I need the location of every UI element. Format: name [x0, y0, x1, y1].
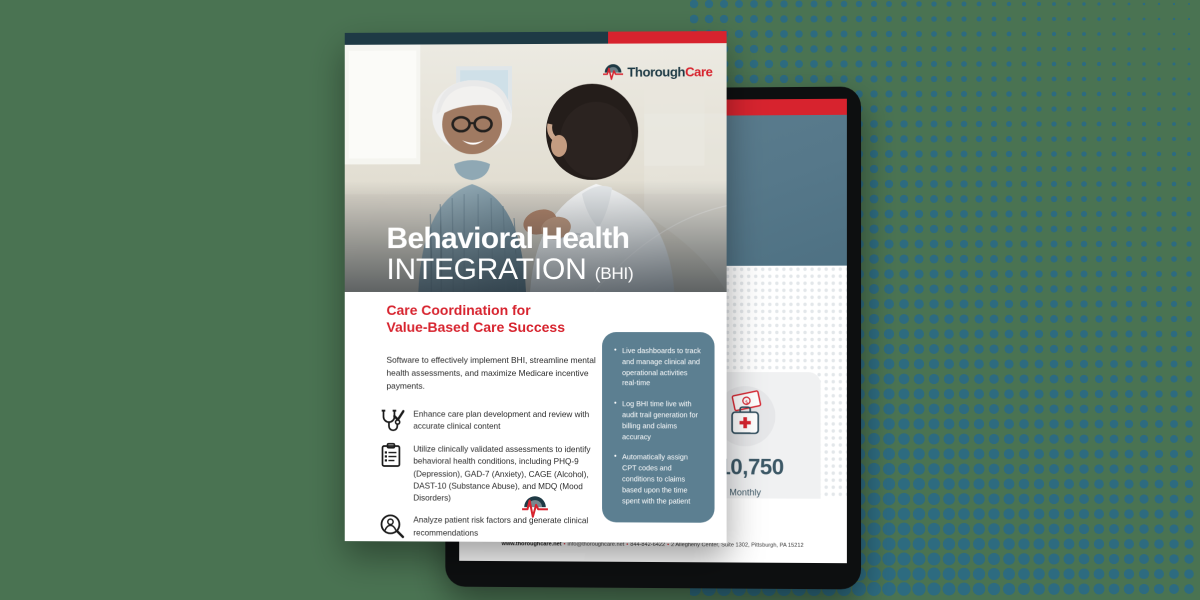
feature-callout-box: Live dashboards to track and manage clin…: [602, 332, 714, 523]
feature-text: Utilize clinically validated assessments…: [413, 443, 606, 506]
feature-item: Utilize clinically validated assessments…: [379, 443, 607, 506]
footer-phone: 844-842-6422: [630, 542, 665, 548]
title-line-1: Behavioral Health: [386, 223, 633, 253]
page1-top-bar: [345, 31, 727, 45]
feature-text: Analyze patient risk factors and generat…: [413, 514, 606, 540]
feature-list: Enhance care plan development and review…: [379, 408, 607, 543]
header-logo-text: ThoroughCare: [627, 64, 712, 79]
header-logo-part1: Thorough: [627, 64, 685, 79]
callout-bullet: Log BHI time live with audit trail gener…: [614, 399, 703, 443]
footer-email[interactable]: info@thoroughcare.net: [568, 542, 625, 548]
header-logo: ThoroughCare: [602, 61, 712, 81]
thoroughcare-logo-icon: [521, 493, 549, 519]
clipboard-checklist-icon: [379, 443, 405, 469]
title-line-2: INTEGRATION (BHI): [386, 254, 633, 286]
callout-bullet-list: Live dashboards to track and manage clin…: [614, 346, 703, 507]
thoroughcare-logo-icon: [602, 62, 624, 82]
stethoscope-check-icon: [379, 408, 405, 434]
page1-bottom-logo: [521, 493, 549, 524]
feature-text: Enhance care plan development and review…: [413, 408, 606, 434]
title-integration: INTEGRATION: [386, 253, 586, 286]
screenshot-stage: Code Pays 99484 $43.04 G0511 $77.90 ...g…: [0, 0, 1200, 600]
callout-bullet: Live dashboards to track and manage clin…: [614, 346, 703, 389]
page1-top-bar-red: [608, 31, 727, 44]
magnifier-person-icon: [379, 514, 405, 540]
feature-item: Analyze patient risk factors and generat…: [379, 514, 607, 541]
subheadline-line-1: Care Coordination for: [386, 302, 596, 319]
footer-website[interactable]: www.thoroughcare.net: [502, 541, 562, 547]
feature-item: Enhance care plan development and review…: [379, 408, 607, 435]
header-logo-part2: Care: [685, 64, 712, 79]
page1-top-bar-navy: [345, 32, 608, 45]
page1-intro-paragraph: Software to effectively implement BHI, s…: [386, 354, 601, 393]
title-bhi-suffix: (BHI): [595, 264, 634, 283]
page-title: Behavioral Health INTEGRATION (BHI): [386, 223, 633, 286]
flyer-page-1: ThoroughCare Behavioral Health INTEGRATI…: [345, 31, 727, 543]
subheadline-line-2: Value-Based Care Success: [386, 319, 596, 336]
footer-address: 2 Allegheny Center, Suite 1302, Pittsbur…: [671, 542, 804, 549]
page1-subheadline: Care Coordination for Value-Based Care S…: [386, 302, 596, 336]
hero-photo: ThoroughCare Behavioral Health INTEGRATI…: [345, 43, 727, 292]
callout-bullet: Automatically assign CPT codes and condi…: [614, 453, 703, 507]
